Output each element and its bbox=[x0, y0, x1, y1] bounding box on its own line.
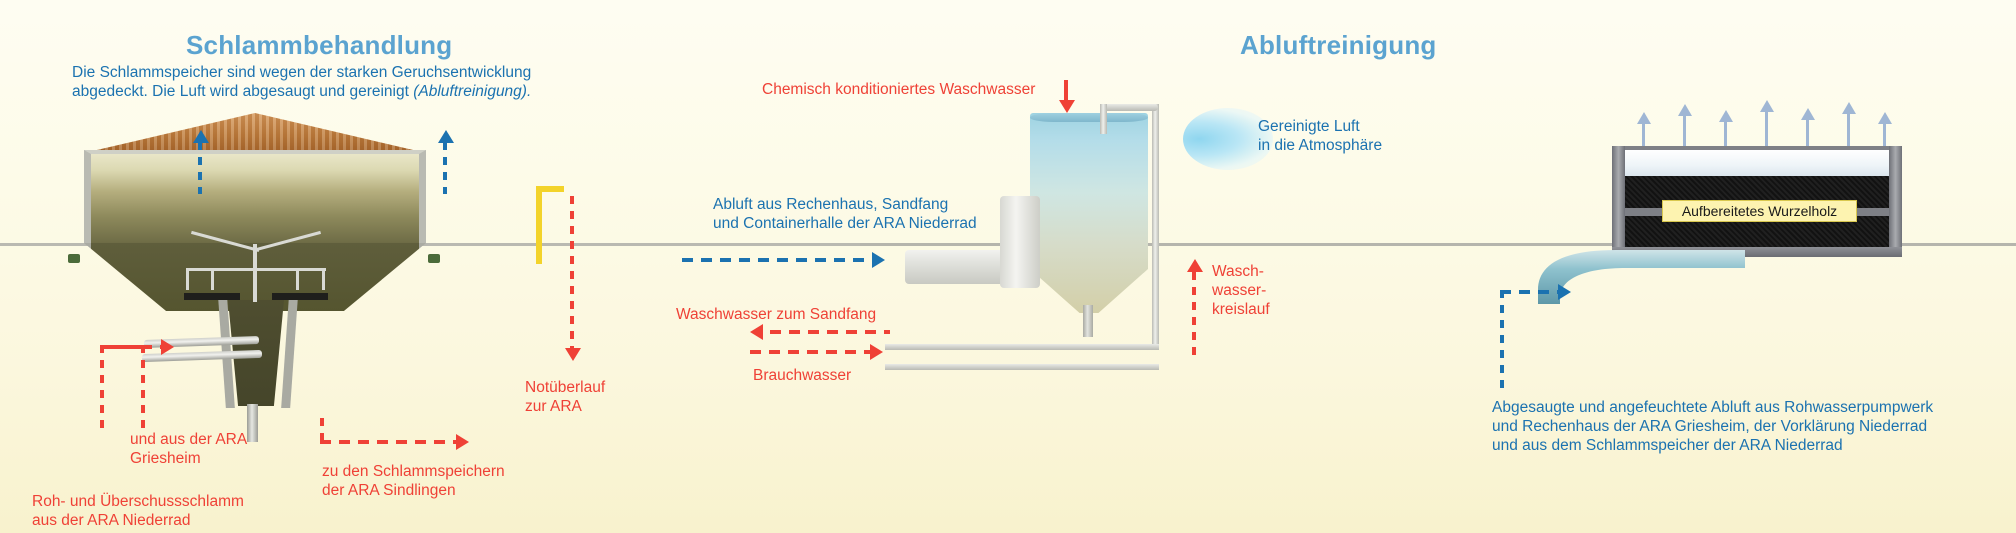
scrubber-side-pipe-vertical bbox=[1152, 104, 1159, 350]
scrubber-tower bbox=[1030, 113, 1148, 313]
sludge-tank-roof bbox=[84, 113, 426, 153]
biofilter-wall-left bbox=[1612, 146, 1625, 251]
label-to-sindlingen-line2: der ARA Sindlingen bbox=[322, 481, 456, 500]
scrubber-top-rim bbox=[1030, 113, 1148, 122]
ground-line-middle bbox=[860, 243, 1560, 246]
label-service-water: Brauchwasser bbox=[753, 366, 851, 385]
biofilter-caption-line3: und aus dem Schlammspeicher der ARA Nied… bbox=[1492, 436, 1843, 455]
label-raw-sludge-line2: aus der ARA Niederrad bbox=[32, 511, 191, 530]
exhaust-inlet-duct-vertical bbox=[1000, 196, 1040, 288]
label-wash-cycle-line3: kreislauf bbox=[1212, 300, 1270, 319]
sludge-description-line2-text: abgedeckt. Die Luft wird abgesaugt und g… bbox=[72, 83, 413, 100]
label-from-griesheim-line1: und aus der ARA bbox=[130, 430, 247, 449]
biofilter-caption-line2: und Rechenhaus der ARA Griesheim, der Vo… bbox=[1492, 417, 1927, 436]
scrubber-bottom-supply-pipe bbox=[885, 364, 1159, 370]
rake-center-shaft bbox=[253, 244, 257, 302]
label-clean-air-line2: in die Atmosphäre bbox=[1258, 136, 1382, 155]
label-wash-to-sandfang: Waschwasser zum Sandfang bbox=[676, 305, 876, 324]
sludge-description-line2: abgedeckt. Die Luft wird abgesaugt und g… bbox=[72, 82, 531, 101]
biofilter-inlet-duct bbox=[1530, 246, 1750, 316]
tank-port-left bbox=[68, 254, 80, 263]
label-clean-air-line1: Gereinigte Luft bbox=[1258, 117, 1360, 136]
label-emergency-overflow-line1: Notüberlauf bbox=[525, 378, 605, 397]
overflow-pipe-horizontal bbox=[536, 186, 564, 192]
sludge-description-italic: (Abluftreinigung). bbox=[413, 83, 531, 100]
scrubber-inlet-drop bbox=[1100, 104, 1107, 134]
tank-port-right bbox=[428, 254, 440, 263]
label-raw-sludge-line1: Roh- und Überschussschlamm bbox=[32, 492, 244, 511]
scraper-blade-left bbox=[184, 293, 240, 300]
label-emergency-overflow-line2: zur ARA bbox=[525, 397, 582, 416]
rake-hanger-2 bbox=[211, 268, 214, 290]
section-title-exhaust: Abluftreinigung bbox=[1240, 30, 1437, 61]
scrubber-bottom-return-pipe bbox=[885, 344, 1159, 350]
scraper-blade-right bbox=[272, 293, 328, 300]
biofilter-wall-right bbox=[1889, 146, 1902, 251]
sludge-outlet-pipe bbox=[247, 404, 258, 442]
section-title-sludge: Schlammbehandlung bbox=[186, 30, 452, 61]
label-from-griesheim-line2: Griesheim bbox=[130, 449, 201, 468]
scrubber-top-pipe bbox=[1100, 104, 1158, 111]
rake-cross-beam bbox=[186, 268, 326, 271]
biofilter-media-label: Aufbereitetes Wurzelholz bbox=[1662, 200, 1857, 222]
rake-hanger-3 bbox=[296, 268, 299, 290]
label-to-sindlingen-line1: zu den Schlammspeichern bbox=[322, 462, 505, 481]
label-exhaust-in-line2: und Containerhalle der ARA Niederrad bbox=[713, 214, 977, 233]
hopper-wall-right bbox=[281, 298, 298, 408]
label-wash-cycle-line1: Wasch- bbox=[1212, 262, 1264, 281]
rake-hanger-1 bbox=[186, 268, 189, 290]
diagram-canvas: Schlammbehandlung Die Schlammspeicher si… bbox=[0, 0, 2016, 533]
label-wash-cycle-line2: wasser- bbox=[1212, 281, 1266, 300]
overflow-pipe-vertical bbox=[536, 186, 542, 264]
scrubber-drain-stem bbox=[1083, 305, 1093, 337]
label-wash-water: Chemisch konditioniertes Waschwasser bbox=[762, 80, 1035, 99]
label-exhaust-in-line1: Abluft aus Rechenhaus, Sandfang bbox=[713, 195, 948, 214]
biofilter-caption-line1: Abgesaugte und angefeuchtete Abluft aus … bbox=[1492, 398, 1933, 417]
sludge-tank-body bbox=[84, 150, 426, 243]
biofilter-top-layer bbox=[1625, 150, 1889, 176]
sludge-description-line1: Die Schlammspeicher sind wegen der stark… bbox=[72, 63, 531, 82]
rake-hanger-4 bbox=[322, 268, 325, 290]
